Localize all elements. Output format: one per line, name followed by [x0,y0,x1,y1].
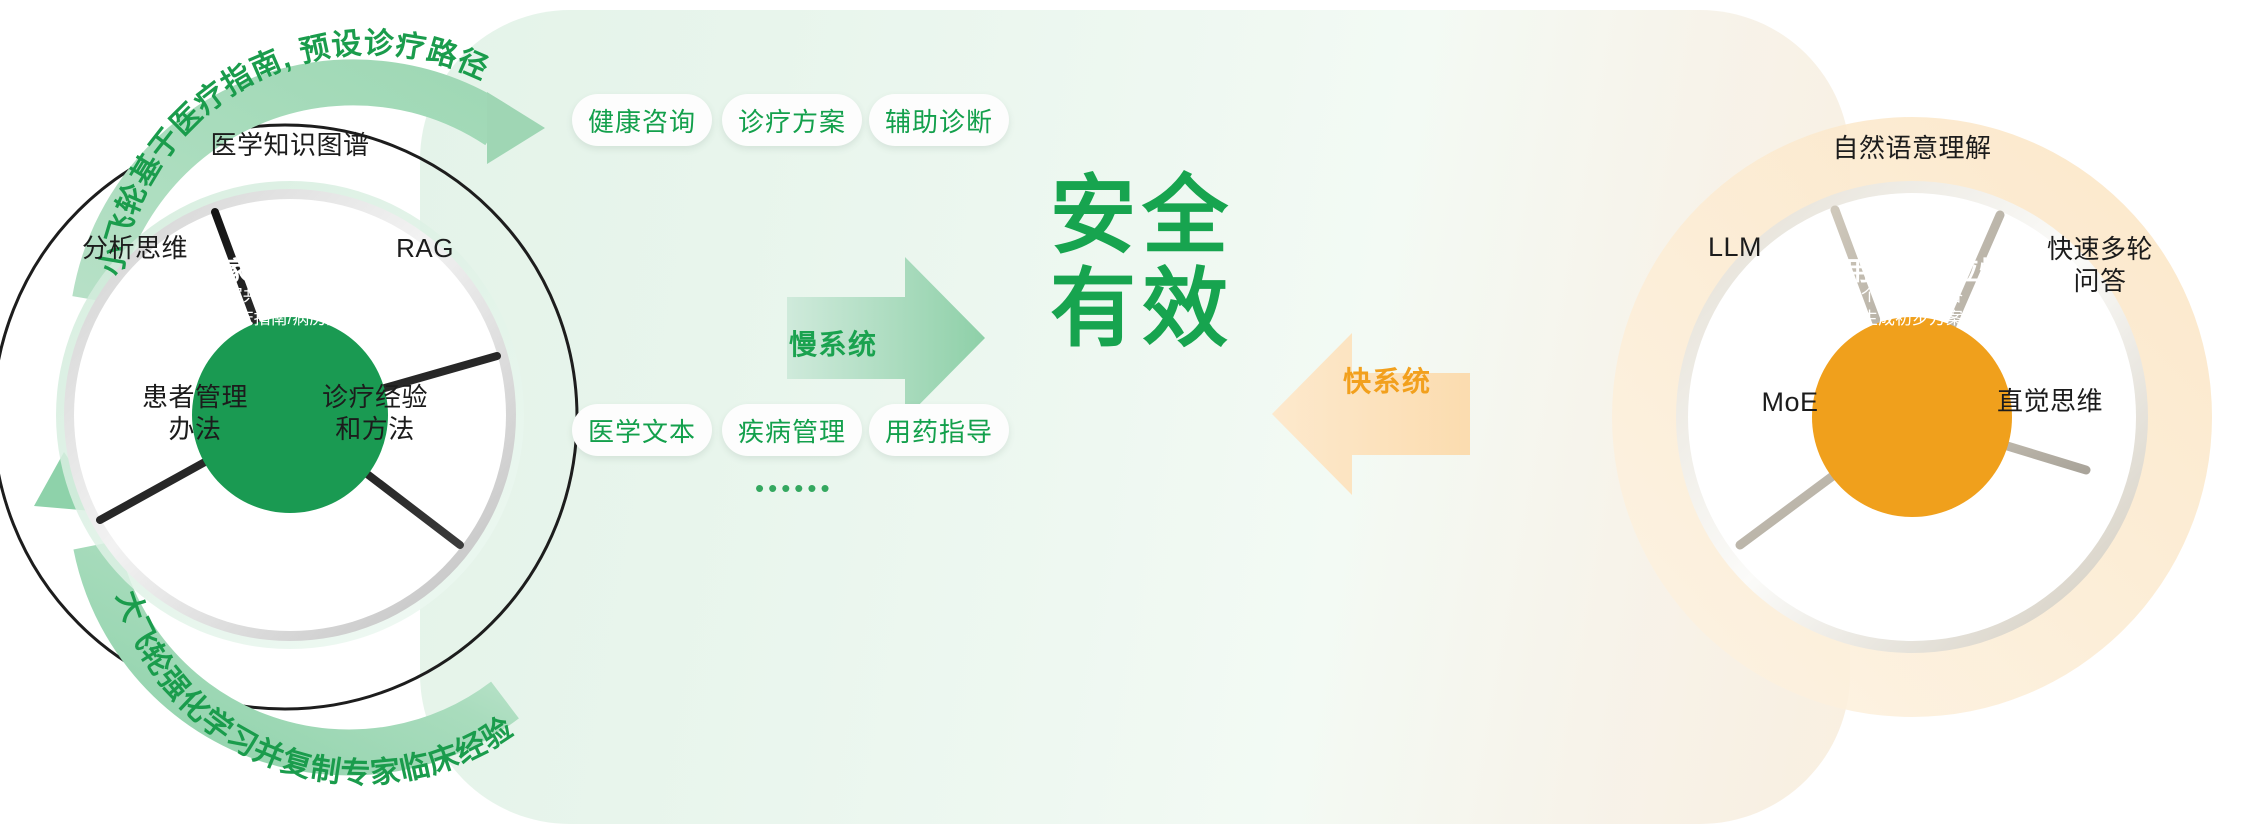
pill-label: 诊疗方案 [738,102,846,139]
left-spoke-label-bottom-left: 患者管理 办法 [115,382,275,445]
right-spoke-label-bottom-left: MoE [1725,386,1855,419]
ellipsis-indicator: •••••• [755,473,834,504]
right-spoke-label-right: 快速多轮 问答 [2025,234,2175,297]
left-spoke-label-top: 医学知识图谱 [155,130,425,162]
pill-bottom-3[interactable]: 用药指导 [869,404,1009,456]
right-spoke-label-bottom-right: 直觉思维 [1965,386,2135,418]
slow-system-label: 慢系统 [789,323,878,363]
right-spoke-label-left: LLM [1670,231,1800,264]
right-spoke-label-top: 自然语意理解 [1777,133,2047,165]
left-hub-subtitle: 专家共识/论文/知识库 临床指南/病历数据 [170,285,410,331]
left-hub-title: 专家经验保准确 [175,251,405,288]
fast-system-arrow [1272,333,1470,495]
pill-top-2[interactable]: 诊疗方案 [722,94,862,146]
pill-bottom-2[interactable]: 疾病管理 [722,404,862,456]
right-hub-title: 通用模型响应快 [1797,251,2027,288]
pill-top-1[interactable]: 健康咨询 [572,94,712,146]
diagram-canvas: 小飞轮基于医疗指南, 预设诊疗路径 大飞轮强化学习并复制专家临床经验 医学知识图… [0,0,2248,834]
headline: 安全 有效 [992,170,1292,356]
pill-bottom-1[interactable]: 医学文本 [572,404,712,456]
fast-system-label: 快系统 [1343,360,1432,400]
left-spoke-label-bottom-right: 诊疗经验 和方法 [295,382,455,445]
right-hub-subtitle: 个体信息问答 生成初步方案 [1792,285,2032,331]
pill-top-3[interactable]: 辅助诊断 [869,94,1009,146]
pill-label: 健康咨询 [588,102,696,139]
pill-label: 疾病管理 [738,412,846,449]
pill-label: 用药指导 [885,412,993,449]
pill-label: 医学文本 [588,412,696,449]
pill-label: 辅助诊断 [885,102,993,139]
